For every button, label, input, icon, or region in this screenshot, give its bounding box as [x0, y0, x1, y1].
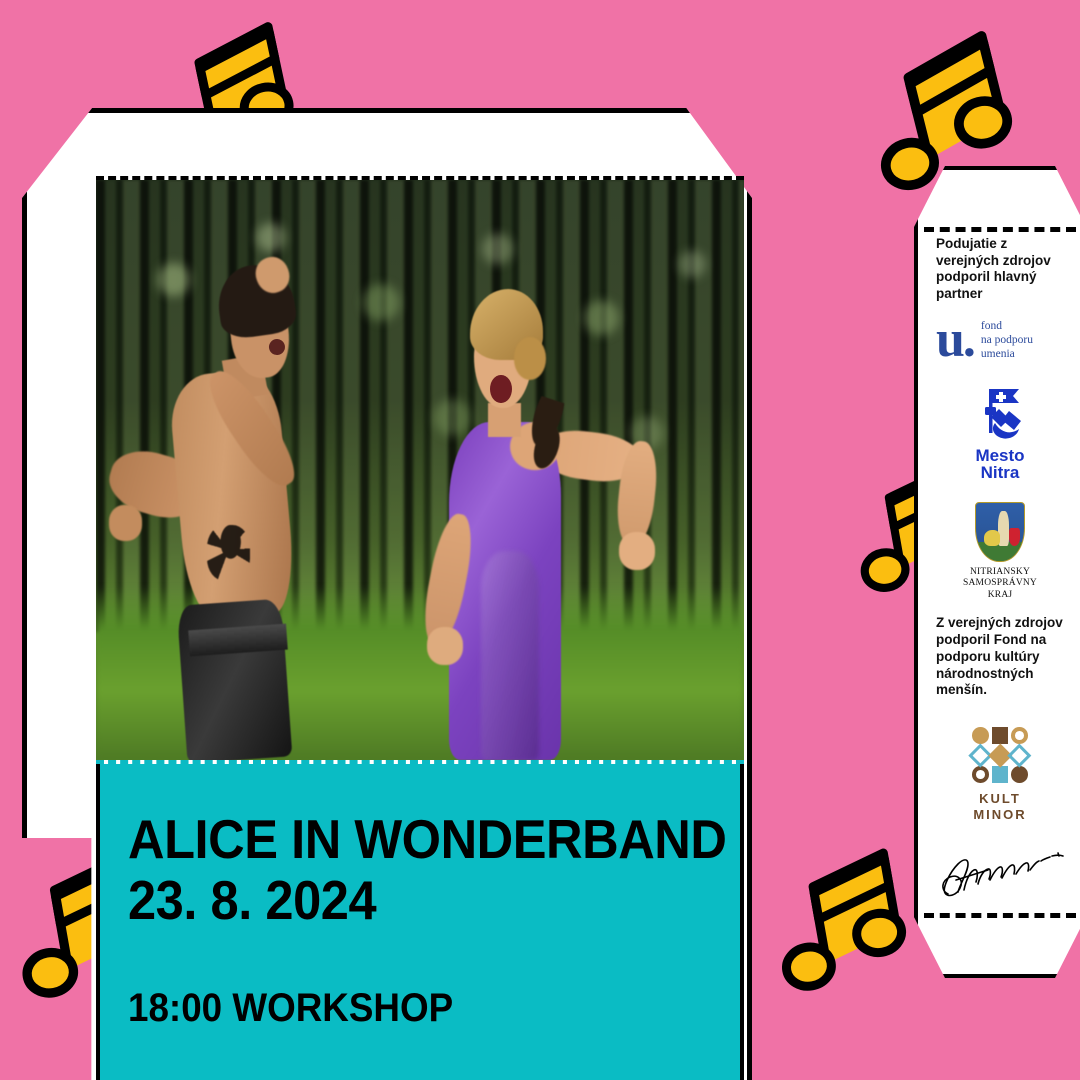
logo-mesto-nitra: Mesto Nitra	[928, 383, 1072, 482]
fpu-line-3: umenia	[981, 348, 1015, 360]
event-photo-image	[96, 180, 744, 760]
nsk-wordmark: NITRIANSKY SAMOSPRÁVNY KRAJ	[928, 567, 1072, 602]
event-title: ALICE IN WONDERBAND	[128, 812, 691, 867]
kult-minor-line-1: KULT	[979, 791, 1021, 806]
fpu-line-2: na podporu	[981, 334, 1033, 346]
sponsor-card-top-dashed-divider	[924, 227, 1076, 232]
music-note-bottom-right-icon	[756, 831, 930, 1005]
event-info-band: ALICE IN WONDERBAND 23. 8. 2024 18:00 WO…	[96, 764, 744, 1080]
logo-nitriansky-samospravny-kraj: NITRIANSKY SAMOSPRÁVNY KRAJ	[928, 502, 1072, 602]
nsk-line-2: SAMOSPRÁVNY	[963, 578, 1037, 588]
logo-fond-na-podporu-umenia: u. fond na podporu umenia	[936, 319, 1072, 361]
logo-kult-minor: KULT MINOR	[928, 727, 1072, 824]
kult-minor-wordmark: KULT MINOR	[928, 791, 1072, 824]
event-photo	[96, 176, 744, 764]
mesto-nitra-line-1: Mesto	[975, 446, 1024, 465]
mesto-nitra-wordmark: Mesto Nitra	[928, 447, 1072, 482]
photo-dancer-woman	[394, 284, 744, 760]
mesto-nitra-line-2: Nitra	[981, 463, 1020, 482]
mesto-nitra-emblem-icon	[969, 383, 1031, 445]
nsk-line-3: KRAJ	[988, 590, 1013, 600]
logo-spectaculare-signature	[928, 850, 1072, 906]
nsk-coat-of-arms-icon	[975, 502, 1025, 562]
poster-canvas: ALICE IN WONDERBAND 23. 8. 2024 18:00 WO…	[0, 0, 1080, 1080]
kult-minor-emblem-icon	[972, 727, 1028, 783]
fpu-u-mark: u.	[936, 320, 974, 361]
fpu-line-1: fond	[981, 320, 1002, 332]
kult-minor-line-2: MINOR	[973, 807, 1026, 822]
sponsor-note-main: Podujatie z verejných zdrojov podporil h…	[928, 236, 1072, 303]
nsk-line-1: NITRIANSKY	[970, 567, 1030, 577]
event-schedule: 18:00 WORKSHOP	[128, 986, 691, 1031]
fpu-wordmark: fond na podporu umenia	[981, 319, 1033, 361]
event-date: 23. 8. 2024	[128, 873, 691, 928]
sponsor-card-bottom-dashed-divider	[924, 913, 1076, 918]
sponsor-sidebar-card: Podujatie z verejných zdrojov podporil h…	[914, 166, 1080, 978]
sponsor-note-secondary: Z verejných zdrojov podporil Fond na pod…	[928, 615, 1072, 699]
